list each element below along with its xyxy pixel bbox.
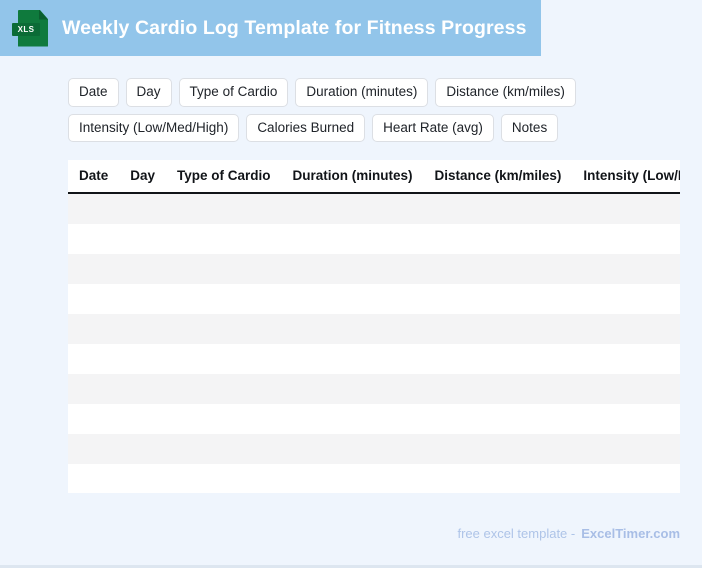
table-cell[interactable] (166, 344, 282, 374)
chip-day[interactable]: Day (126, 78, 172, 107)
table-cell[interactable] (572, 193, 680, 224)
table-cell[interactable] (119, 254, 166, 284)
table-cell[interactable] (68, 374, 119, 404)
cardio-log-table-container[interactable]: Date Day Type of Cardio Duration (minute… (68, 160, 680, 493)
table-cell[interactable] (572, 344, 680, 374)
chip-type-of-cardio[interactable]: Type of Cardio (179, 78, 289, 107)
chip-notes[interactable]: Notes (501, 114, 558, 143)
table-body (68, 193, 680, 493)
table-cell[interactable] (119, 344, 166, 374)
table-row[interactable] (68, 374, 680, 404)
table-cell[interactable] (282, 404, 424, 434)
page-title: Weekly Cardio Log Template for Fitness P… (62, 17, 527, 40)
table-row[interactable] (68, 254, 680, 284)
chip-heart-rate-avg[interactable]: Heart Rate (avg) (372, 114, 494, 143)
table-cell[interactable] (119, 464, 166, 493)
table-cell[interactable] (424, 193, 573, 224)
table-cell[interactable] (166, 284, 282, 314)
table-row[interactable] (68, 193, 680, 224)
table-cell[interactable] (572, 404, 680, 434)
table-cell[interactable] (166, 314, 282, 344)
chip-duration-minutes[interactable]: Duration (minutes) (295, 78, 428, 107)
table-cell[interactable] (424, 464, 573, 493)
table-cell[interactable] (166, 464, 282, 493)
table-cell[interactable] (424, 254, 573, 284)
table-cell[interactable] (572, 314, 680, 344)
table-cell[interactable] (68, 284, 119, 314)
chip-calories-burned[interactable]: Calories Burned (246, 114, 365, 143)
column-header-date[interactable]: Date (68, 160, 119, 193)
table-header-row: Date Day Type of Cardio Duration (minute… (68, 160, 680, 193)
chip-date[interactable]: Date (68, 78, 119, 107)
table-cell[interactable] (282, 284, 424, 314)
table-cell[interactable] (119, 434, 166, 464)
table-cell[interactable] (424, 284, 573, 314)
table-cell[interactable] (68, 193, 119, 224)
table-cell[interactable] (572, 374, 680, 404)
table-cell[interactable] (572, 254, 680, 284)
table-cell[interactable] (166, 254, 282, 284)
table-header: Date Day Type of Cardio Duration (minute… (68, 160, 680, 193)
table-row[interactable] (68, 404, 680, 434)
table-cell[interactable] (68, 464, 119, 493)
table-row[interactable] (68, 434, 680, 464)
table-cell[interactable] (119, 193, 166, 224)
table-row[interactable] (68, 464, 680, 493)
table-cell[interactable] (68, 434, 119, 464)
table-cell[interactable] (282, 193, 424, 224)
table-cell[interactable] (68, 224, 119, 254)
table-cell[interactable] (119, 404, 166, 434)
table-cell[interactable] (572, 284, 680, 314)
table-cell[interactable] (424, 224, 573, 254)
table-cell[interactable] (119, 284, 166, 314)
table-cell[interactable] (424, 314, 573, 344)
xls-file-icon: XLS (18, 10, 48, 47)
table-row[interactable] (68, 314, 680, 344)
table-cell[interactable] (282, 434, 424, 464)
table-cell[interactable] (282, 224, 424, 254)
table-cell[interactable] (282, 344, 424, 374)
field-chip-list: Date Day Type of Cardio Duration (minute… (68, 78, 668, 142)
table-cell[interactable] (282, 254, 424, 284)
table-cell[interactable] (424, 374, 573, 404)
table-cell[interactable] (68, 344, 119, 374)
table-cell[interactable] (68, 314, 119, 344)
column-header-intensity[interactable]: Intensity (Low/Med/High) (572, 160, 680, 193)
page-root: XLS Weekly Cardio Log Template for Fitne… (0, 0, 702, 568)
chip-distance-km-miles[interactable]: Distance (km/miles) (435, 78, 576, 107)
table-cell[interactable] (119, 314, 166, 344)
table-cell[interactable] (424, 344, 573, 374)
table-cell[interactable] (424, 434, 573, 464)
column-header-distance[interactable]: Distance (km/miles) (424, 160, 573, 193)
cardio-log-table: Date Day Type of Cardio Duration (minute… (68, 160, 680, 493)
table-row[interactable] (68, 284, 680, 314)
table-row[interactable] (68, 224, 680, 254)
table-cell[interactable] (572, 434, 680, 464)
table-cell[interactable] (68, 254, 119, 284)
column-header-day[interactable]: Day (119, 160, 166, 193)
table-cell[interactable] (166, 434, 282, 464)
table-cell[interactable] (68, 404, 119, 434)
table-cell[interactable] (119, 374, 166, 404)
column-header-duration[interactable]: Duration (minutes) (282, 160, 424, 193)
table-cell[interactable] (166, 193, 282, 224)
table-cell[interactable] (572, 464, 680, 493)
table-cell[interactable] (166, 224, 282, 254)
table-cell[interactable] (166, 374, 282, 404)
table-cell[interactable] (282, 314, 424, 344)
footer-text: free excel template - (457, 526, 575, 541)
table-cell[interactable] (282, 374, 424, 404)
table-cell[interactable] (119, 224, 166, 254)
table-row[interactable] (68, 344, 680, 374)
table-cell[interactable] (572, 224, 680, 254)
footer-brand-link[interactable]: ExcelTimer.com (581, 526, 680, 541)
chip-intensity[interactable]: Intensity (Low/Med/High) (68, 114, 239, 143)
table-cell[interactable] (166, 404, 282, 434)
xls-icon-label: XLS (12, 23, 40, 36)
column-header-type-of-cardio[interactable]: Type of Cardio (166, 160, 282, 193)
table-cell[interactable] (424, 404, 573, 434)
table-cell[interactable] (282, 464, 424, 493)
header-banner: XLS Weekly Cardio Log Template for Fitne… (0, 0, 541, 56)
footer-credit: free excel template -ExcelTimer.com (457, 526, 680, 541)
